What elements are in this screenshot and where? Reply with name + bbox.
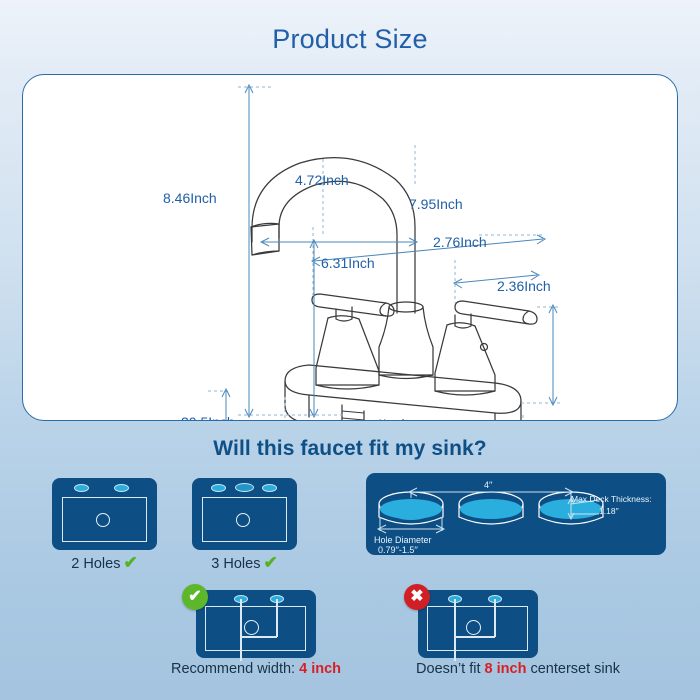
page-title: Product Size (0, 24, 700, 55)
measure-line-span (454, 636, 495, 638)
sink-recommended[interactable] (196, 590, 316, 658)
sink-drain (466, 620, 481, 635)
dim-handle-length: 2.76Inch (433, 234, 487, 250)
dim-spout-reach: 4.72Inch (295, 172, 349, 188)
sink-drain (236, 513, 250, 527)
fit-section-heading: Will this faucet fit my sink? (0, 437, 700, 461)
faucet-technical-drawing: 8.46Inch 4.72Inch 6.31Inch 7.95Inch 2.76… (23, 75, 678, 421)
faucet-hole (74, 484, 89, 492)
dim-deck-depth: 20.5Inch (181, 414, 235, 421)
sink-drain (244, 620, 259, 635)
measure-line-left (240, 599, 242, 661)
spec-hole-diameter-line1: Hole Diameter (374, 535, 432, 545)
not-fit-caption-suffix: centerset sink (530, 661, 619, 677)
not-fit-caption: Doesn’t fit 8 inch centerset sink (368, 661, 668, 677)
measure-line-span (240, 636, 277, 638)
dim-overall-width: 7.95Inch (409, 196, 463, 212)
dim-handle-height: 2.36Inch (497, 278, 551, 294)
not-fit-cross-badge: ✖ (404, 584, 430, 610)
sink-drain (96, 513, 110, 527)
faucet-hole (262, 484, 277, 492)
spec-hole-diameter-line2: 0.79′′-1.5′′ (378, 545, 418, 555)
faucet-hole (114, 484, 129, 492)
hole-spec-panel: 4′′ Max Deck Thickness: 1.18′′ Hole Diam… (366, 473, 666, 555)
recommended-caption-highlight: 4 inch (299, 661, 341, 677)
faucet-hole (211, 484, 226, 492)
dim-spout-height: 6.31Inch (321, 255, 375, 271)
sink-option-label: 3 Holes (211, 556, 260, 572)
check-icon: ✔ (263, 553, 277, 572)
sink-option-2-holes-caption: 2 Holes✔ (52, 553, 157, 573)
faucet-hole-center (235, 483, 254, 492)
sink-option-3-holes-caption: 3 Holes✔ (192, 553, 297, 573)
spec-deck-thickness-line1: Max Deck Thickness: (571, 494, 652, 504)
not-fit-caption-highlight: 8 inch (485, 661, 527, 677)
recommended-check-badge: ✔ (182, 584, 208, 610)
page-root: Product Size (0, 0, 700, 700)
spec-spacing-label: 4′′ (484, 480, 493, 490)
sink-option-2-holes[interactable] (52, 478, 157, 550)
measure-line-right (494, 599, 496, 637)
recommended-caption-prefix: Recommend width: (171, 661, 295, 677)
check-icon: ✔ (123, 553, 137, 572)
measure-line-right (276, 599, 278, 637)
recommended-caption: Recommend width: 4 inch (146, 661, 366, 677)
product-size-card: 8.46Inch 4.72Inch 6.31Inch 7.95Inch 2.76… (22, 74, 678, 421)
sink-option-3-holes[interactable] (192, 478, 297, 550)
dim-overall-height: 8.46Inch (163, 190, 217, 206)
not-fit-caption-prefix: Doesn’t fit (416, 661, 480, 677)
measure-line-left (454, 599, 456, 661)
dim-centerset: 4Inch (375, 416, 409, 421)
spec-deck-thickness-line2: 1.18′′ (599, 506, 619, 516)
sink-option-label: 2 Holes (71, 556, 120, 572)
sink-not-fit[interactable] (418, 590, 538, 658)
